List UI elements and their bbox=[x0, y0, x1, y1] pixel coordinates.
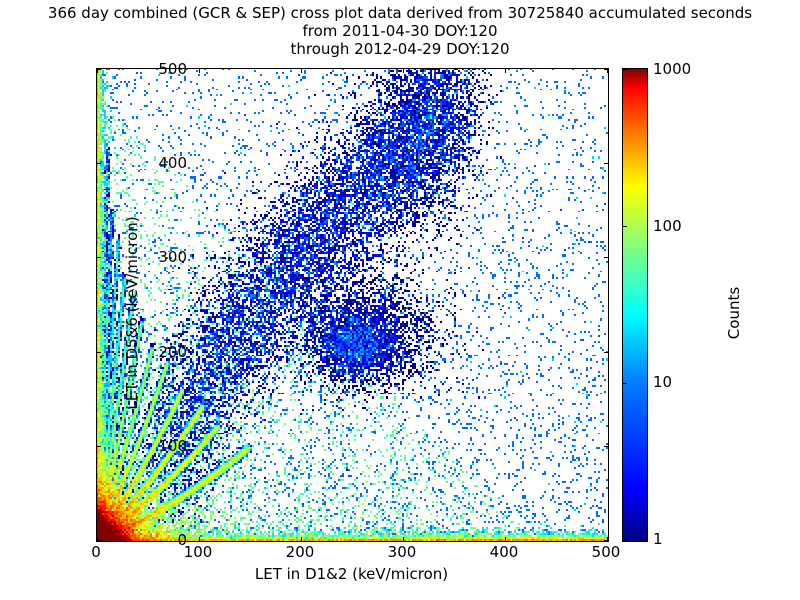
xtick-top-300 bbox=[403, 69, 404, 73]
ytick-300 bbox=[97, 257, 101, 258]
xtick-500 bbox=[607, 537, 608, 541]
colorbar-tick-1 bbox=[623, 539, 627, 540]
colorbar bbox=[622, 68, 648, 542]
colorbar-label-100: 100 bbox=[653, 219, 682, 234]
ytick-right-100 bbox=[604, 446, 608, 447]
xtick-100 bbox=[199, 537, 200, 541]
density-scatter-canvas bbox=[97, 69, 608, 541]
colorbar-label-1000: 1000 bbox=[653, 62, 691, 77]
title-line-3: through 2012-04-29 DOY:120 bbox=[0, 40, 800, 58]
figure-canvas: 366 day combined (GCR & SEP) cross plot … bbox=[0, 0, 800, 600]
ytick-label-100: 100 bbox=[158, 439, 187, 454]
colorbar-title: Counts bbox=[725, 213, 743, 413]
xtick-label-0: 0 bbox=[91, 545, 101, 560]
colorbar-tick-1000 bbox=[623, 69, 627, 70]
ytick-label-200: 200 bbox=[158, 345, 187, 360]
plot-axes bbox=[96, 68, 609, 542]
xtick-top-0 bbox=[97, 69, 98, 73]
xtick-top-200 bbox=[301, 69, 302, 73]
ytick-label-400: 400 bbox=[158, 156, 187, 171]
title-line-1: 366 day combined (GCR & SEP) cross plot … bbox=[0, 4, 800, 22]
title-line-2: from 2011-04-30 DOY:120 bbox=[0, 22, 800, 40]
xtick-top-500 bbox=[607, 69, 608, 73]
ytick-label-300: 300 bbox=[158, 250, 187, 265]
colorbar-label-10: 10 bbox=[653, 375, 672, 390]
colorbar-tick-10 bbox=[623, 383, 627, 384]
xtick-300 bbox=[403, 537, 404, 541]
xtick-top-400 bbox=[505, 69, 506, 73]
ytick-right-400 bbox=[604, 163, 608, 164]
xtick-top-100 bbox=[199, 69, 200, 73]
colorbar-tick-100 bbox=[623, 226, 627, 227]
ytick-label-500: 500 bbox=[158, 62, 187, 77]
ytick-right-300 bbox=[604, 257, 608, 258]
plot-title: 366 day combined (GCR & SEP) cross plot … bbox=[0, 4, 800, 58]
xtick-label-200: 200 bbox=[286, 545, 315, 560]
xtick-label-100: 100 bbox=[184, 545, 213, 560]
xtick-0 bbox=[97, 537, 98, 541]
x-axis-label: LET in D1&2 (keV/micron) bbox=[96, 565, 607, 583]
colorbar-label-1: 1 bbox=[653, 532, 663, 547]
y-axis-label: LET in D5&6 (keV/micron) bbox=[123, 77, 141, 549]
ytick-200 bbox=[97, 352, 101, 353]
xtick-400 bbox=[505, 537, 506, 541]
xtick-label-300: 300 bbox=[388, 545, 417, 560]
xtick-label-400: 400 bbox=[490, 545, 519, 560]
ytick-100 bbox=[97, 446, 101, 447]
ytick-400 bbox=[97, 163, 101, 164]
xtick-200 bbox=[301, 537, 302, 541]
xtick-label-500: 500 bbox=[592, 545, 621, 560]
ytick-right-200 bbox=[604, 352, 608, 353]
